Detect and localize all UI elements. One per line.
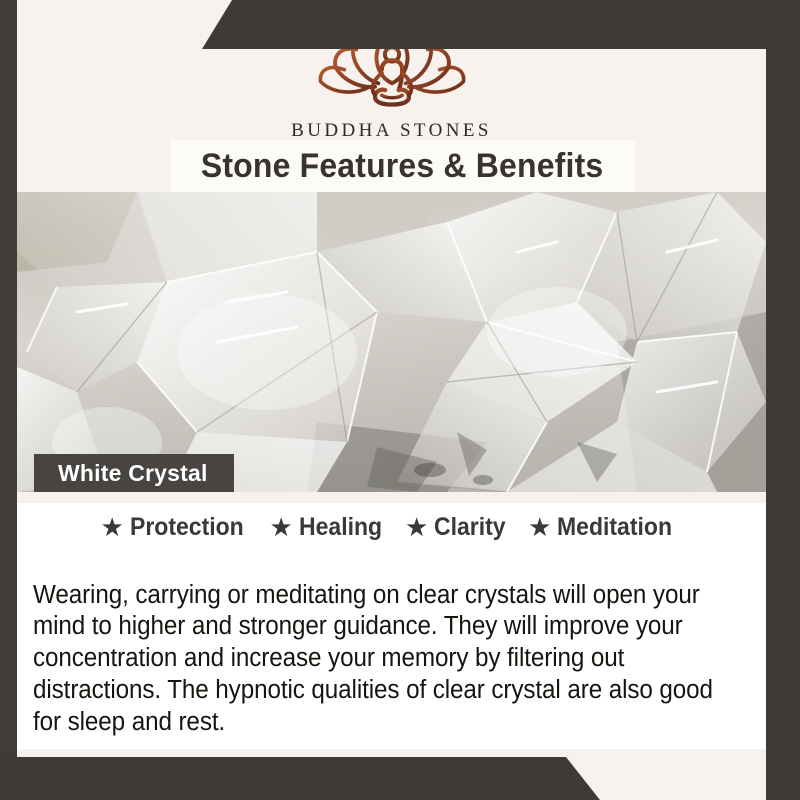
benefit-item-clarity: ★ Clarity xyxy=(405,513,512,542)
content-panel: ★ Protection ★ Healing ★ Clarity ★ Medit… xyxy=(17,492,766,757)
frame-right-edge xyxy=(766,0,800,800)
photo-caption-text: White Crystal xyxy=(58,460,208,487)
benefits-list: ★ Protection ★ Healing ★ Clarity ★ Medit… xyxy=(17,513,766,542)
frame-bottom-left-corner xyxy=(0,757,800,800)
page-title-band: Stone Features & Benefits xyxy=(170,140,635,192)
star-icon: ★ xyxy=(101,514,124,540)
frame-left-edge xyxy=(0,0,17,800)
benefit-item-meditation: ★ Meditation xyxy=(528,513,682,542)
benefit-label: Meditation xyxy=(557,513,672,542)
description-paragraph: Wearing, carrying or meditating on clear… xyxy=(33,580,719,739)
star-icon: ★ xyxy=(405,514,428,540)
product-photo: White Crystal xyxy=(17,192,766,492)
benefit-label: Healing xyxy=(299,513,382,542)
content-bottom-fade xyxy=(17,749,766,757)
photo-caption-band: White Crystal xyxy=(34,454,234,492)
benefit-item-protection: ★ Protection xyxy=(101,513,254,542)
star-icon: ★ xyxy=(269,514,292,540)
page-title: Stone Features & Benefits xyxy=(201,147,604,186)
content-top-fade xyxy=(17,492,766,503)
benefit-label: Clarity xyxy=(434,513,506,542)
crystal-cluster-image xyxy=(17,192,766,492)
benefit-item-healing: ★ Healing xyxy=(269,513,389,542)
star-icon: ★ xyxy=(528,514,551,540)
brand-name: BUDDHA STONES xyxy=(291,120,492,142)
product-feature-poster: BUDDHA STONES Stone Features & Benefits xyxy=(0,0,800,800)
benefit-label: Protection xyxy=(130,513,244,542)
